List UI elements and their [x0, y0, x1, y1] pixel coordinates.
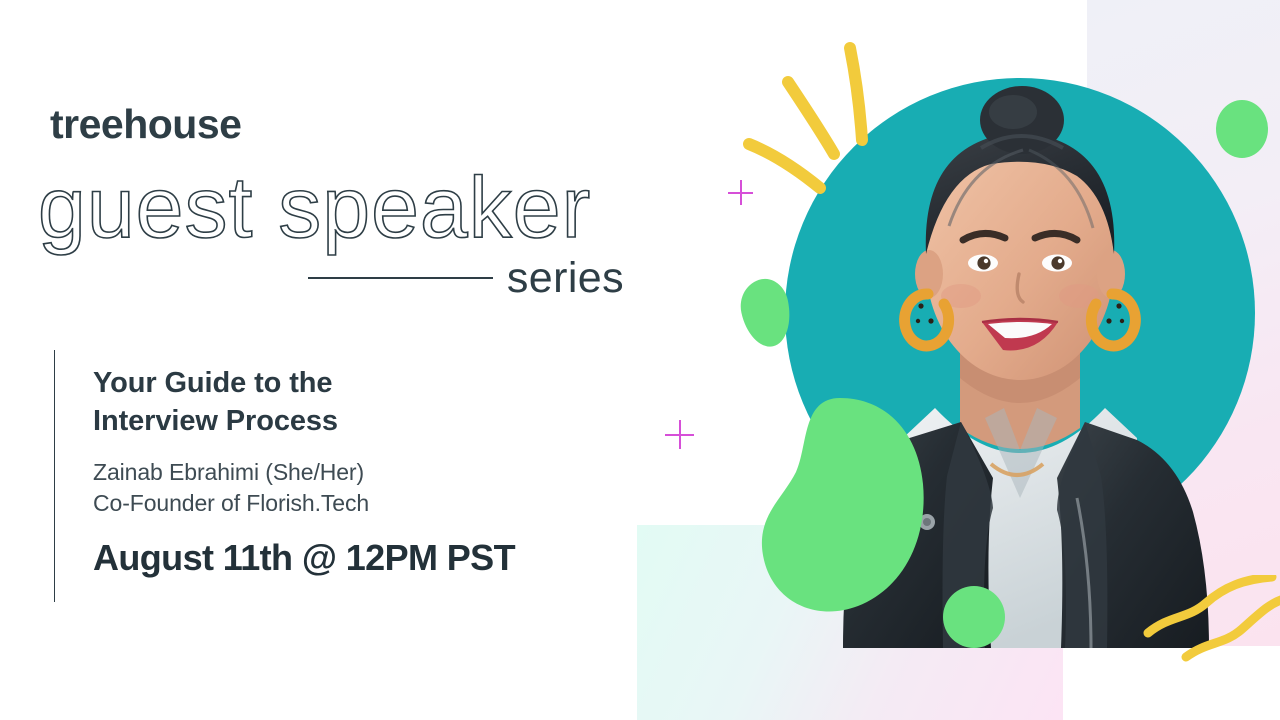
green-blob-large: [758, 396, 928, 614]
series-row: series: [308, 254, 624, 302]
plus-mark-icon: [728, 180, 753, 205]
series-word: series: [507, 257, 624, 300]
brand-wordmark: treehouse: [50, 104, 241, 145]
speaker-name: Zainab Ebrahimi (She/Her): [93, 457, 614, 489]
speaker-role: Co-Founder of Florish.Tech: [93, 488, 614, 520]
event-datetime: August 11th @ 12PM PST: [93, 536, 614, 579]
wavy-lines-icon: [1140, 575, 1280, 685]
talk-title-line-two: Interview Process: [93, 405, 338, 437]
green-dot-bottom: [943, 586, 1005, 648]
headline-guest-speaker: guest speaker: [38, 162, 591, 255]
series-divider-rule: [308, 277, 493, 279]
event-details-block: Your Guide to the Interview Process Zain…: [54, 350, 614, 602]
talk-title-line-one: Your Guide to the: [93, 367, 332, 399]
promo-slide: treehouse guest speaker series Your Guid…: [0, 0, 1280, 720]
sparkle-strokes-icon: [740, 30, 900, 220]
talk-title: Your Guide to the Interview Process: [93, 364, 614, 441]
plus-mark-icon: [665, 420, 694, 449]
